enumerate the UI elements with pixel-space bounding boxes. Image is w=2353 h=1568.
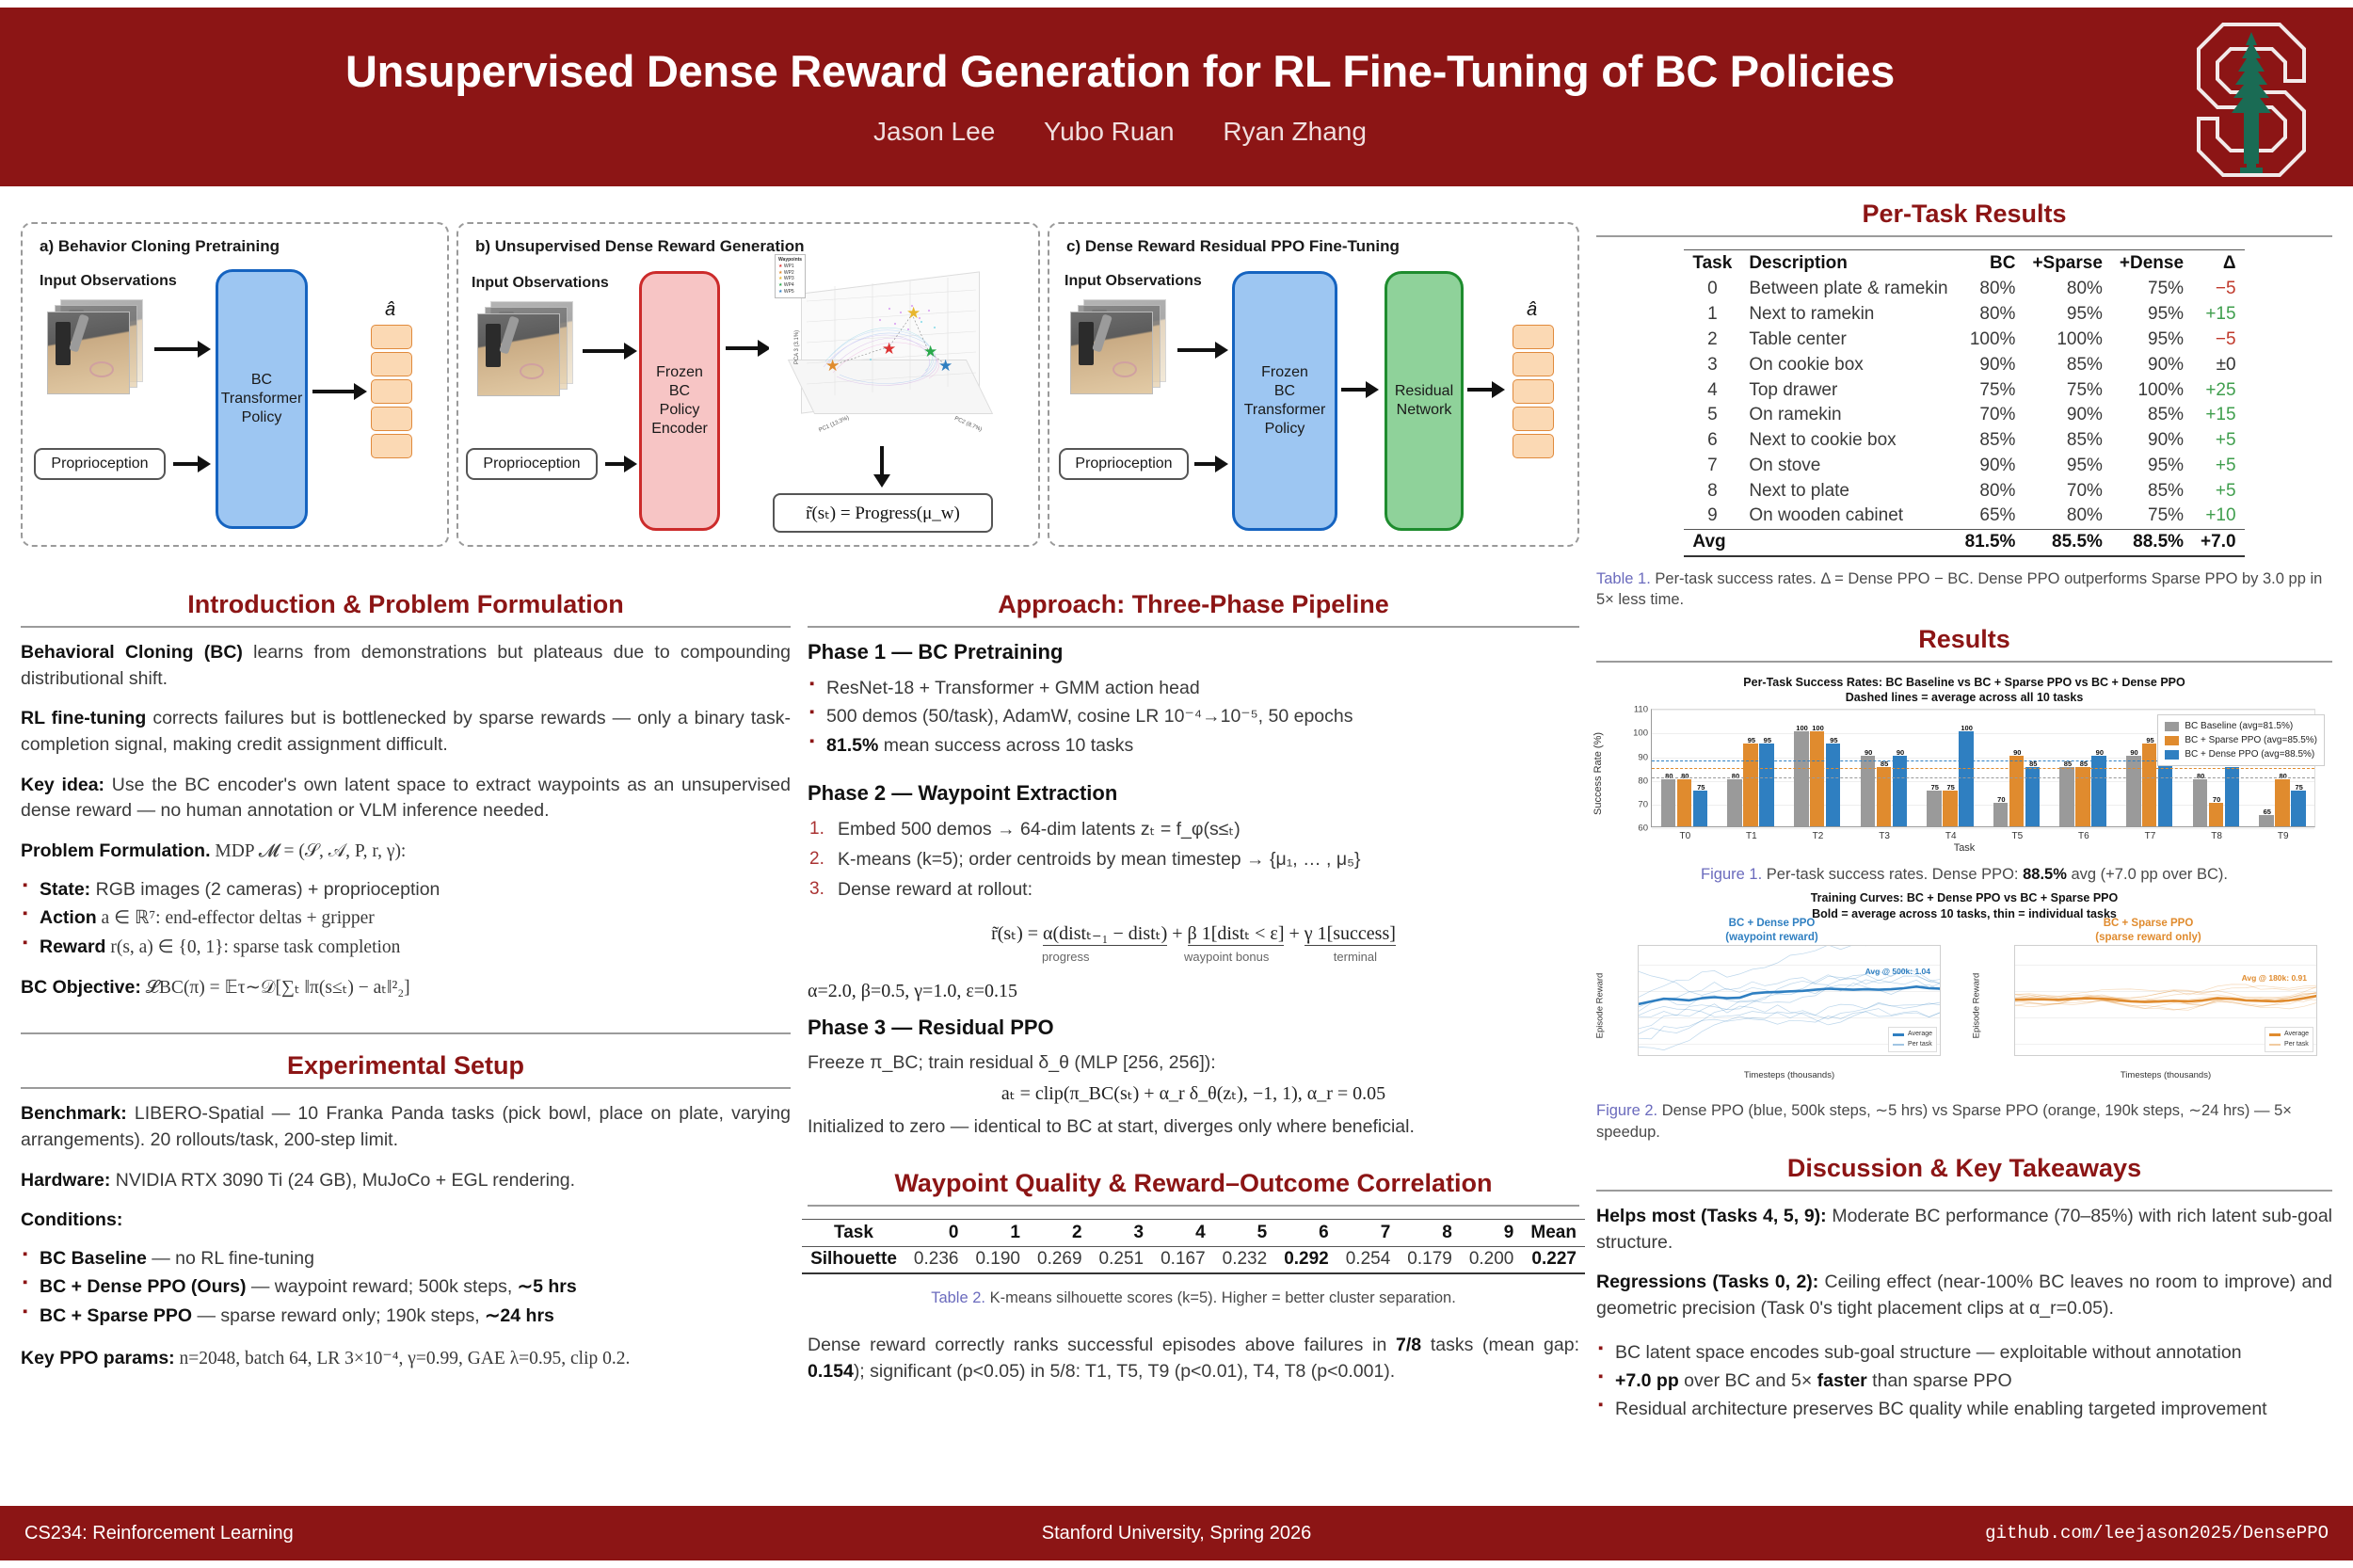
panel-c-title: c) Dense Reward Residual PPO Fine-Tuning: [1066, 237, 1400, 256]
chart-1-x-tick: T7: [2145, 831, 2156, 841]
chart-1-y-tick: 110: [1634, 705, 1648, 715]
author-list: Jason Lee Yubo Ruan Ryan Zhang: [0, 117, 2240, 147]
reward-hyperparameters: α=2.0, β=0.5, γ=1.0, ε=0.15: [808, 981, 1579, 1002]
cell-dense: 90%: [2111, 352, 2192, 377]
cell-sparse: 85%: [2024, 428, 2110, 454]
chart-1-bar: [1693, 791, 1707, 826]
table-row: 8Next to plate80%70%85%+5: [1684, 478, 2244, 504]
cell-dense: 100%: [2111, 377, 2192, 403]
column-left: Introduction & Problem Formulation Behav…: [21, 588, 791, 1386]
list-item: 81.5% mean success across 10 tasks: [808, 732, 1579, 759]
training-curve-sparse-panel: BC + Sparse PPO (sparse reward only) Epi…: [1973, 917, 2324, 1086]
chart-1-x-tick: T2: [1813, 831, 1824, 841]
cell-delta: +10: [2192, 504, 2245, 529]
scatter-y-axis-label: PCA 3 (3.1%): [794, 330, 800, 364]
chart-1-average-line: [1652, 768, 2314, 769]
section-title-experimental-setup: Experimental Setup: [21, 1051, 791, 1080]
chart-1-x-tick: T3: [1879, 831, 1890, 841]
cell-desc: On ramekin: [1740, 403, 1956, 428]
table-row: 3On cookie box90%85%90%±0: [1684, 352, 2244, 377]
setup-conditions-list: BC Baseline — no RL fine-tuning BC + Den…: [21, 1245, 791, 1329]
chart-1-bar: [2126, 756, 2140, 827]
chart-1-legend: BC Baseline (avg=81.5%) BC + Sparse PPO …: [2157, 714, 2325, 766]
panel-b-proprioception-box: Proprioception: [466, 448, 598, 480]
table-header-task: Task: [802, 1219, 905, 1246]
divider: [21, 1032, 791, 1034]
table-row: 6Next to cookie box85%85%90%+5: [1684, 428, 2244, 454]
section-title-approach: Approach: Three-Phase Pipeline: [808, 590, 1579, 619]
chart-1-bar-value: 70: [2213, 795, 2220, 804]
intro-paragraph-3: Key idea: Use the BC encoder's own laten…: [21, 773, 791, 824]
chart-1-bar-value: 80: [2197, 772, 2204, 780]
chart-1-x-tick: T4: [1945, 831, 1957, 841]
chart-1-bar-value: 100: [1961, 724, 1973, 732]
chart-1-bar-value: 100: [1812, 724, 1824, 732]
panel-a-proprioception-box: Proprioception: [34, 448, 166, 480]
pipeline-diagram: a) Behavior Cloning Pretraining Input Ob…: [21, 222, 1579, 547]
chart-1-y-axis-label: Success Rate (%): [1593, 732, 1604, 815]
chart-1-bar-value: 75: [2295, 783, 2302, 792]
sparse-panel-title: BC + Sparse PPO (sparse reward only): [1973, 917, 2324, 945]
cell-sparse: 85%: [2024, 352, 2110, 377]
cell-bc: 80%: [1957, 277, 2025, 302]
cell-dense: 95%: [2111, 453, 2192, 478]
chart-1-bar-value: 95: [2146, 736, 2153, 744]
chart-1-bar: [1959, 731, 1973, 826]
chart-1-x-tick: T0: [1679, 831, 1690, 841]
cell-sparse: 80%: [2024, 277, 2110, 302]
table-row: 7On stove90%95%95%+5: [1684, 453, 2244, 478]
diagram-panel-c: c) Dense Reward Residual PPO Fine-Tuning…: [1048, 222, 1579, 547]
sparse-x-axis-label: Timesteps (thousands): [2014, 1070, 2317, 1080]
setup-benchmark: Benchmark: LIBERO-Spatial — 10 Franka Pa…: [21, 1101, 791, 1153]
cell-delta: ±0: [2192, 352, 2245, 377]
table-row: 0Between plate & ramekin80%80%75%−5: [1684, 277, 2244, 302]
chart-1-y-tick: 80: [1638, 776, 1648, 786]
diagram-panel-b: b) Unsupervised Dense Reward Generation …: [456, 222, 1040, 547]
sparse-y-axis-label: Episode Reward: [1972, 973, 1982, 1039]
table-row: Silhouette 0.236 0.190 0.269 0.251 0.167…: [802, 1246, 1585, 1272]
chart-2-annotation: Avg @ 180k: 0.91: [2242, 973, 2307, 983]
cell-sparse: 70%: [2024, 478, 2110, 504]
list-item: BC Baseline — no RL fine-tuning: [21, 1245, 791, 1272]
chart-1-bar-value: 80: [1681, 772, 1689, 780]
observation-image-stack: [1070, 299, 1168, 397]
diagram-panel-a: a) Behavior Cloning Pretraining Input Ob…: [21, 222, 449, 547]
chart-1-bar: [1943, 791, 1957, 826]
cell-bc: 70%: [1957, 403, 2025, 428]
setup-ppo-params: Key PPO params: n=2048, batch 64, LR 3×1…: [21, 1346, 791, 1372]
list-item: Embed 500 demos → 64-dim latents zₜ = f_…: [808, 816, 1579, 843]
cell-bc: 75%: [1957, 377, 2025, 403]
setup-hardware: Hardware: NVIDIA RTX 3090 Ti (24 GB), Mu…: [21, 1168, 791, 1194]
reward-correlation-note: Dense reward correctly ranks successful …: [808, 1333, 1579, 1384]
cell-task: 0: [1684, 277, 1740, 302]
dense-panel-title: BC + Dense PPO (waypoint reward): [1596, 917, 1947, 945]
figure-2-caption: Figure 2. Dense PPO (blue, 500k steps, ∼…: [1596, 1100, 2332, 1143]
chart-1-bar-value: 100: [1796, 724, 1808, 732]
table-1-caption: Table 1. Per-task success rates. Δ = Den…: [1596, 568, 2332, 611]
panel-a-bc-policy-block: BC Transformer Policy: [216, 269, 308, 529]
chart-1-x-tick: T6: [2078, 831, 2089, 841]
table-row: 2Table center100%100%95%−5: [1684, 328, 2244, 353]
chart-1-bar: [2025, 767, 2040, 826]
table-row: 5On ramekin70%90%85%+15: [1684, 403, 2244, 428]
cell-dense: 75%: [2111, 504, 2192, 529]
residual-policy-formula: aₜ = clip(π_BC(sₜ) + α_r δ_θ(zₜ), −1, 1)…: [808, 1081, 1579, 1105]
section-title-waypoint-quality: Waypoint Quality & Reward–Outcome Correl…: [808, 1169, 1579, 1198]
chart-1-bar-value: 75: [1947, 783, 1955, 792]
cell-dense: 85%: [2111, 478, 2192, 504]
list-item: BC + Dense PPO (Ours) — waypoint reward;…: [21, 1273, 791, 1300]
phase-2-heading: Phase 2 — Waypoint Extraction: [808, 781, 1579, 806]
chart-1-bar-value: 95: [1748, 736, 1755, 744]
sparse-plot-area: 0.00.51.01.520406080100120140160180Avg @…: [2014, 945, 2317, 1056]
footer-repo-link[interactable]: github.com/leejason2025/DensePPO: [1985, 1523, 2329, 1544]
intro-paragraph-1: Behavioral Cloning (BC) learns from demo…: [21, 640, 791, 692]
cell-desc: On stove: [1740, 453, 1956, 478]
list-item: 500 demos (50/task), AdamW, cosine LR 10…: [808, 703, 1579, 729]
cell-delta: +5: [2192, 478, 2245, 504]
poster-header: Unsupervised Dense Reward Generation for…: [0, 8, 2353, 186]
panel-c-residual-network-block: Residual Network: [1385, 271, 1464, 531]
chart-1-x-tick: T8: [2211, 831, 2222, 841]
chart-1-bar-value: 75: [1697, 783, 1705, 792]
cell-bc: 100%: [1957, 328, 2025, 353]
panel-a-title: a) Behavior Cloning Pretraining: [40, 237, 280, 256]
chart-1-x-tick: T9: [2278, 831, 2289, 841]
chart-1-bar-value: 95: [1764, 736, 1771, 744]
panel-c-action-symbol: â: [1527, 299, 1537, 321]
list-item: Dense reward at rollout:: [808, 876, 1579, 904]
latent-space-scatter-plot: ★ ★ ★ ★ ★ Waypoints ★ WP1 ★ WP2 ★ WP3 ★ …: [769, 254, 1023, 442]
cell-desc: Next to plate: [1740, 478, 1956, 504]
cell-task: 4: [1684, 377, 1740, 403]
column-middle: Approach: Three-Phase Pipeline Phase 1 —…: [808, 588, 1579, 1399]
table-row: 1Next to ramekin80%95%95%+15: [1684, 302, 2244, 328]
cell-desc: Table center: [1740, 328, 1956, 353]
panel-a-input-label: Input Observations: [40, 273, 177, 290]
per-task-results-table: Task Description BC +Sparse +Dense Δ 0Be…: [1684, 249, 2244, 557]
chart-1-bar-value: 90: [2013, 748, 2021, 757]
panel-a-action-symbol: â: [385, 299, 395, 321]
page-title: Unsupervised Dense Reward Generation for…: [0, 47, 2240, 96]
phase-1-bullets: ResNet-18 + Transformer + GMM action hea…: [808, 675, 1579, 759]
cell-sparse: 80%: [2024, 504, 2110, 529]
panel-c-frozen-bc-block: Frozen BC Transformer Policy: [1232, 271, 1337, 531]
dense-reward-formula: r̃(sₜ) = α(distₜ₋₁ − distₜ) + β 1[distₜ …: [808, 921, 1579, 945]
panel-b-input-label: Input Observations: [472, 275, 609, 292]
chart-1-bar-value: 90: [2130, 748, 2137, 757]
cell-bc: 90%: [1957, 453, 2025, 478]
chart-1-bar: [1810, 731, 1824, 826]
cell-desc: Top drawer: [1740, 377, 1956, 403]
chart-1-bar: [2291, 791, 2305, 826]
discussion-paragraph-2: Regressions (Tasks 0, 2): Ceiling effect…: [1596, 1270, 2332, 1321]
cell-dense: 75%: [2111, 277, 2192, 302]
cell-dense: 95%: [2111, 328, 2192, 353]
chart-1-bar: [2075, 767, 2089, 826]
author-3: Ryan Zhang: [1223, 117, 1367, 146]
stanford-tree-logo-icon: [2195, 21, 2308, 179]
list-item: ResNet-18 + Transformer + GMM action hea…: [808, 675, 1579, 701]
chart-1-x-axis-label: Task: [1596, 842, 2332, 854]
chart-1-title: Per-Task Success Rates: BC Baseline vs B…: [1596, 675, 2332, 706]
training-curve-dense-panel: BC + Dense PPO (waypoint reward) Episode…: [1596, 917, 1947, 1086]
chart-1-bar: [1993, 803, 2008, 826]
training-curves-chart: Training Curves: BC + Dense PPO vs BC + …: [1596, 890, 2332, 1093]
intro-paragraph-2: RL fine-tuning corrects failures but is …: [21, 706, 791, 758]
cell-task: 8: [1684, 478, 1740, 504]
chart-1-x-tick: T5: [2011, 831, 2023, 841]
chart-1-bar-value: 95: [1830, 736, 1837, 744]
chart-2-legend: AveragePer task: [2265, 1027, 2313, 1052]
divider: [1596, 1190, 2332, 1192]
chart-1-bar: [1661, 779, 1675, 826]
list-item: Residual architecture preserves BC quali…: [1596, 1396, 2332, 1422]
chart-1-bar-value: 80: [2280, 772, 2287, 780]
chart-1-bar: [1877, 767, 1891, 826]
chart-1-bar: [2275, 779, 2289, 826]
dense-x-axis-label: Timesteps (thousands): [1638, 1070, 1941, 1080]
table-row: 9On wooden cabinet65%80%75%+10: [1684, 504, 2244, 529]
panel-b-title: b) Unsupervised Dense Reward Generation: [475, 237, 805, 256]
cell-dense: 95%: [2111, 302, 2192, 328]
chart-1-bar: [1893, 756, 1907, 827]
cell-sparse: 75%: [2024, 377, 2110, 403]
panel-b-reward-formula: r̃(sₜ) = Progress(μ_w): [773, 493, 993, 533]
cell-desc: Next to cookie box: [1740, 428, 1956, 454]
chart-2-legend: AveragePer task: [1888, 1027, 1937, 1052]
chart-1-bar-value: 80: [1665, 772, 1673, 780]
chart-1-x-tick: T1: [1746, 831, 1757, 841]
chart-2-annotation: Avg @ 500k: 1.04: [1865, 967, 1930, 976]
chart-1-y-tick: 90: [1638, 752, 1648, 762]
divider: [1596, 235, 2332, 237]
chart-1-bar: [1743, 744, 1757, 826]
footer-course: CS234: Reinforcement Learning: [24, 1523, 294, 1544]
chart-1-bar: [2225, 767, 2239, 826]
chart-1-bar: [2209, 803, 2223, 826]
chart-1-bar: [2142, 744, 2156, 826]
panel-c-proprioception-box: Proprioception: [1059, 448, 1189, 480]
chart-1-bar-value: 90: [2096, 748, 2104, 757]
divider: [21, 1087, 791, 1089]
cell-desc: On wooden cabinet: [1740, 504, 1956, 529]
chart-1-bar: [1794, 731, 1808, 826]
chart-1-bar-value: 90: [1897, 748, 1904, 757]
phase-2-steps: Embed 500 demos → 64-dim latents zₜ = f_…: [808, 816, 1579, 904]
dense-y-axis-label: Episode Reward: [1595, 973, 1606, 1039]
chart-1-bar: [2259, 815, 2273, 827]
cell-desc: Between plate & ramekin: [1740, 277, 1956, 302]
list-item: Reward r(s, a) ∈ {0, 1}: sparse task com…: [21, 934, 791, 961]
table-row: 4Top drawer75%75%100%+25: [1684, 377, 2244, 403]
phase-3-heading: Phase 3 — Residual PPO: [808, 1016, 1579, 1040]
cell-delta: +5: [2192, 428, 2245, 454]
list-item: BC + Sparse PPO — sparse reward only; 19…: [21, 1303, 791, 1329]
chart-1-average-line: [1652, 777, 2314, 778]
chart-1-y-tick: 60: [1638, 824, 1648, 834]
cell-desc: On cookie box: [1740, 352, 1956, 377]
cell-task: 6: [1684, 428, 1740, 454]
divider: [21, 626, 791, 628]
figure-1-caption: Figure 1. Per-task success rates. Dense …: [1596, 864, 2332, 885]
poster-root: Unsupervised Dense Reward Generation for…: [0, 0, 2353, 1568]
divider: [808, 626, 1579, 628]
setup-conditions-label: Conditions:: [21, 1208, 791, 1234]
cell-sparse: 100%: [2024, 328, 2110, 353]
cell-task: 2: [1684, 328, 1740, 353]
cell-delta: +15: [2192, 302, 2245, 328]
cell-delta: +25: [2192, 377, 2245, 403]
cell-delta: −5: [2192, 277, 2245, 302]
cell-task: 5: [1684, 403, 1740, 428]
chart-1-bar: [2059, 767, 2073, 826]
chart-1-bar: [1677, 779, 1691, 826]
section-title-introduction: Introduction & Problem Formulation: [21, 590, 791, 619]
list-item: BC latent space encodes sub-goal structu…: [1596, 1339, 2332, 1366]
intro-problem-formulation: Problem Formulation. MDP 𝓜 = (𝒮, 𝒜, P, r…: [21, 839, 791, 865]
chart-1-bar: [1759, 744, 1773, 826]
cell-sparse: 90%: [2024, 403, 2110, 428]
phase-1-heading: Phase 1 — BC Pretraining: [808, 640, 1579, 664]
chart-1-bar-value: 65: [2264, 808, 2271, 816]
intro-mdp-bullets: State: RGB images (2 cameras) + proprioc…: [21, 876, 791, 962]
cell-task: 1: [1684, 302, 1740, 328]
chart-1-bar: [1927, 791, 1941, 826]
chart-1-bar: [2193, 779, 2207, 826]
intro-bc-objective: BC Objective: 𝓛BC(π) = 𝔼τ∼𝒟[∑ₜ ‖π(s≤ₜ) −…: [21, 975, 791, 1001]
list-item: K-means (k=5); order centroids by mean t…: [808, 846, 1579, 873]
chart-1-y-tick: 70: [1638, 799, 1648, 809]
observation-image-stack: [47, 299, 145, 397]
chart-1-bar-value: 75: [1931, 783, 1939, 792]
author-1: Jason Lee: [873, 117, 995, 146]
section-title-results: Results: [1596, 625, 2332, 654]
cell-bc: 65%: [1957, 504, 2025, 529]
list-item: +7.0 pp over BC and 5× faster than spars…: [1596, 1368, 2332, 1394]
divider: [1596, 661, 2332, 663]
phase-3-line-2: Initialized to zero — identical to BC at…: [808, 1114, 1579, 1141]
cell-bc: 80%: [1957, 302, 2025, 328]
author-2: Yubo Ruan: [1044, 117, 1175, 146]
chart-1-y-tick: 100: [1633, 728, 1648, 739]
silhouette-table: Task 0 1 2 3 4 5 6 7 8 9 Mean: [802, 1219, 1585, 1274]
section-title-per-task-results: Per-Task Results: [1596, 200, 2332, 229]
waypoint-legend: Waypoints ★ WP1 ★ WP2 ★ WP3 ★ WP4 ★ WP5: [775, 254, 806, 298]
cell-bc: 90%: [1957, 352, 2025, 377]
discussion-bullets: BC latent space encodes sub-goal structu…: [1596, 1339, 2332, 1423]
panel-c-action-vector: [1513, 325, 1554, 461]
column-right: Per-Task Results Task Description BC +Sp…: [1596, 198, 2332, 1435]
cell-dense: 90%: [2111, 428, 2192, 454]
cell-delta: −5: [2192, 328, 2245, 353]
chart-1-bar-value: 90: [1865, 748, 1872, 757]
panel-a-action-vector: [371, 325, 412, 461]
dense-reward-formula-tags: progress waypoint bonus terminal: [808, 949, 1579, 966]
cell-delta: +5: [2192, 453, 2245, 478]
observation-image-stack: [477, 301, 575, 399]
chart-1-bar: [1727, 779, 1741, 826]
poster-footer: CS234: Reinforcement Learning Stanford U…: [0, 1506, 2353, 1560]
cell-bc: 80%: [1957, 478, 2025, 504]
cell-task: 9: [1684, 504, 1740, 529]
dense-plot-area: 0.00.51.01.5100200300400500Avg @ 500k: 1…: [1638, 945, 1941, 1056]
cell-sparse: 95%: [2024, 453, 2110, 478]
cell-delta: +15: [2192, 403, 2245, 428]
cell-dense: 85%: [2111, 403, 2192, 428]
list-item: State: RGB images (2 cameras) + proprioc…: [21, 876, 791, 903]
cell-desc: Next to ramekin: [1740, 302, 1956, 328]
chart-1-bar: [1861, 756, 1875, 827]
cell-task: 7: [1684, 453, 1740, 478]
table-2-caption: Table 2. K-means silhouette scores (k=5)…: [808, 1288, 1579, 1308]
chart-1-bar: [2091, 756, 2105, 827]
chart-1-bar-value: 70: [1997, 795, 2005, 804]
phase-3-line-1: Freeze π_BC; train residual δ_θ (MLP [25…: [808, 1050, 1579, 1077]
chart-1-bar: [2009, 756, 2024, 827]
cell-sparse: 95%: [2024, 302, 2110, 328]
chart-1-bar: [1826, 744, 1840, 826]
table-row-average: Avg81.5%85.5%88.5%+7.0: [1684, 529, 2244, 555]
panel-c-input-label: Input Observations: [1064, 273, 1202, 290]
discussion-paragraph-1: Helps most (Tasks 4, 5, 9): Moderate BC …: [1596, 1204, 2332, 1256]
divider: [808, 1205, 1579, 1207]
cell-task: 3: [1684, 352, 1740, 377]
list-item: Action a ∈ ℝ⁷: end-effector deltas + gri…: [21, 904, 791, 932]
panel-b-encoder-block: Frozen BC Policy Encoder: [639, 271, 720, 531]
chart-1-bar-value: 80: [1732, 772, 1739, 780]
section-title-discussion: Discussion & Key Takeaways: [1596, 1154, 2332, 1183]
per-task-success-bar-chart: Per-Task Success Rates: BC Baseline vs B…: [1596, 675, 2332, 858]
cell-bc: 85%: [1957, 428, 2025, 454]
